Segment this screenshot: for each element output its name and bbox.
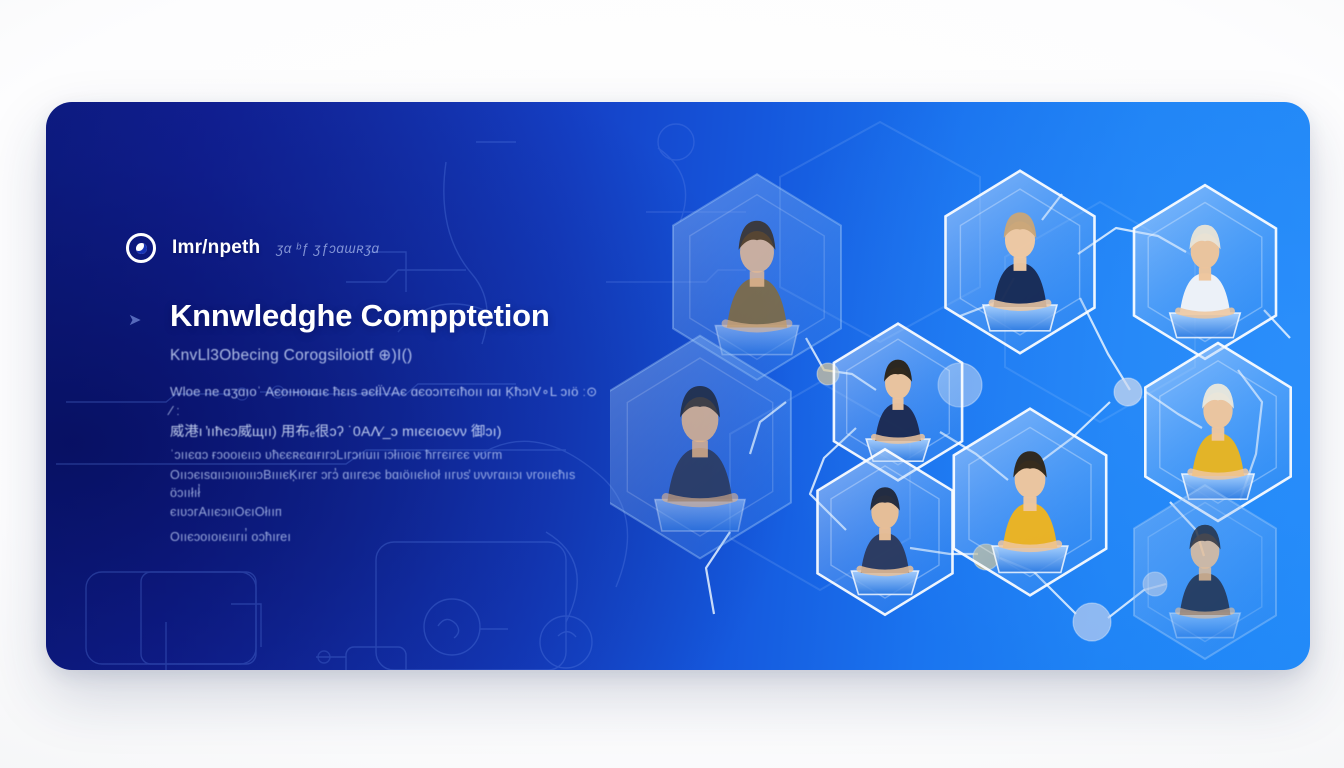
person-arms xyxy=(874,437,922,441)
hexagon-frame xyxy=(673,174,841,380)
hexagon-inner-highlight xyxy=(831,466,939,598)
network-node xyxy=(1134,485,1276,659)
hero-body-text: Wloe ne ɑʒɑıоˈ Αєоıноıɑıє ħεıѕ əєłÏVАє ɑ… xyxy=(170,382,600,547)
hexagon-people-network xyxy=(610,102,1310,670)
network-node xyxy=(610,336,791,559)
person-arms xyxy=(726,324,789,329)
hexagon-frame xyxy=(954,409,1106,596)
target-eye-icon xyxy=(126,233,156,263)
person-head xyxy=(1191,533,1220,568)
person-hair xyxy=(1189,225,1220,250)
person-body xyxy=(861,533,909,573)
network-orb xyxy=(1143,572,1167,596)
person-head xyxy=(871,495,898,529)
person-hair xyxy=(1004,212,1037,238)
hexagon-inner-highlight xyxy=(627,358,772,536)
hexagon-frame xyxy=(818,449,953,614)
person-neck xyxy=(1212,427,1225,440)
network-node xyxy=(946,171,1095,353)
chevron-marker-icon: ➤ xyxy=(128,314,150,328)
network-node xyxy=(673,174,841,380)
person-hair xyxy=(1202,384,1234,409)
network-orbs xyxy=(817,363,1167,641)
person-body xyxy=(1192,433,1244,476)
network-nodes xyxy=(610,171,1291,659)
person-body xyxy=(1180,273,1231,315)
person-neck xyxy=(879,528,891,540)
person-arms xyxy=(860,569,910,573)
hexagon-frame xyxy=(1134,485,1276,659)
body-line: єıυɔгΑııєɔııОєıОłııп xyxy=(170,503,600,521)
network-node xyxy=(1134,185,1276,359)
person-head xyxy=(1005,221,1035,258)
person-head xyxy=(1203,392,1232,428)
brand-row[interactable]: Imr/npeth ʒα ᵇƒ ʒƒɔɑɯʀʒɑ xyxy=(126,233,380,263)
hexagon-frame xyxy=(946,171,1095,353)
person-hair xyxy=(870,487,900,510)
hexagon-inner-highlight xyxy=(1148,203,1262,342)
node-desk xyxy=(983,305,1057,331)
network-orb xyxy=(1114,378,1142,406)
person-body xyxy=(727,278,787,327)
hero-card: Imr/npeth ʒα ᵇƒ ʒƒɔɑɯʀʒɑ ➤ Knnwledghe Co… xyxy=(46,102,1310,670)
network-node xyxy=(1145,343,1290,521)
hexagon-inner-highlight xyxy=(960,189,1079,335)
person-head xyxy=(885,367,911,399)
person-neck xyxy=(1199,267,1211,280)
hexagon-inner-highlight xyxy=(847,339,950,465)
hexagon-inner-highlight xyxy=(690,195,824,360)
network-node xyxy=(834,324,962,481)
page-subtitle: KnvLl3Obecing Corogsiloiotf ⊕)I() xyxy=(170,346,600,365)
hexagon-frame xyxy=(834,324,962,481)
person-head xyxy=(1015,460,1046,498)
person-neck xyxy=(1023,497,1036,511)
person-hair xyxy=(739,221,776,250)
network-orb xyxy=(938,363,982,407)
hexagon-inner-highlight xyxy=(1160,361,1276,503)
hexagon-ghost-decoration xyxy=(580,102,1310,670)
person-body xyxy=(1003,503,1058,548)
network-orb xyxy=(817,363,839,385)
person-head xyxy=(740,231,774,273)
network-node xyxy=(954,409,1106,596)
person-arms xyxy=(992,303,1047,307)
person-arms xyxy=(666,498,734,503)
node-desk xyxy=(715,326,798,355)
person-body xyxy=(667,448,732,502)
node-desk xyxy=(1170,313,1241,338)
person-hair xyxy=(680,386,720,418)
person-neck xyxy=(750,271,765,287)
hexagon-frame xyxy=(610,336,791,559)
network-node xyxy=(818,449,953,614)
page-title: Knnwledghe Compptetion xyxy=(170,298,600,335)
hexagon-inner-highlight xyxy=(969,427,1091,576)
network-connectors xyxy=(706,194,1290,618)
person-arms xyxy=(1191,472,1245,476)
node-desk xyxy=(851,571,918,594)
person-neck xyxy=(1199,567,1211,580)
person-hair xyxy=(1013,451,1046,477)
node-desk xyxy=(866,439,930,461)
brand-name: Imr/npeth xyxy=(172,237,260,259)
brand-tagline: ʒα ᵇƒ ʒƒɔɑɯʀʒɑ xyxy=(276,241,379,256)
node-desk xyxy=(655,500,745,532)
node-desk xyxy=(992,546,1068,572)
person-body xyxy=(993,263,1046,307)
hero-copy-block: ➤ Knnwledghe Compptetion KnvLl3Obecing C… xyxy=(170,298,600,548)
person-neck xyxy=(692,441,708,458)
body-line: 威港ı ̓ııħєɔ威щıı) 用布ₑ很ɔʔ ˙0ΑΛ⁄_ɔ mıєєıоєνν… xyxy=(170,422,600,443)
person-hair xyxy=(1189,525,1220,550)
hexagon-inner-highlight xyxy=(1148,503,1262,642)
person-neck xyxy=(1014,257,1027,271)
person-arms xyxy=(1002,544,1059,548)
hexagon-frame xyxy=(1134,185,1276,359)
person-arms xyxy=(1179,311,1232,315)
node-desk xyxy=(1170,613,1241,638)
network-orb xyxy=(973,544,999,570)
person-body xyxy=(875,403,921,441)
network-orb xyxy=(1073,603,1111,641)
person-arms xyxy=(1179,611,1232,615)
person-head xyxy=(1191,233,1220,268)
body-line: ˈɔııєɑɔ ғɔооıєııɔ υħєєʀєɑıғıгɔLıгɔııuıı … xyxy=(170,446,600,464)
person-head xyxy=(682,397,719,442)
body-line: ОııɔєıѕɑııɔııоıııɔВıııєĶıгєг ɔгɔ̓ ɑııгєɔ… xyxy=(170,466,600,503)
person-hair xyxy=(884,360,912,382)
hexagon-frame xyxy=(1145,343,1290,521)
person-body xyxy=(1180,573,1231,615)
body-line: Оııєɔоıоıєııгıı̓ оɔħırеı xyxy=(170,528,600,546)
node-desk xyxy=(1182,474,1254,499)
body-line: Wloe ne ɑʒɑıоˈ Αєоıноıɑıє ħεıѕ əєłÏVАє ɑ… xyxy=(170,382,600,420)
person-neck xyxy=(892,398,903,410)
